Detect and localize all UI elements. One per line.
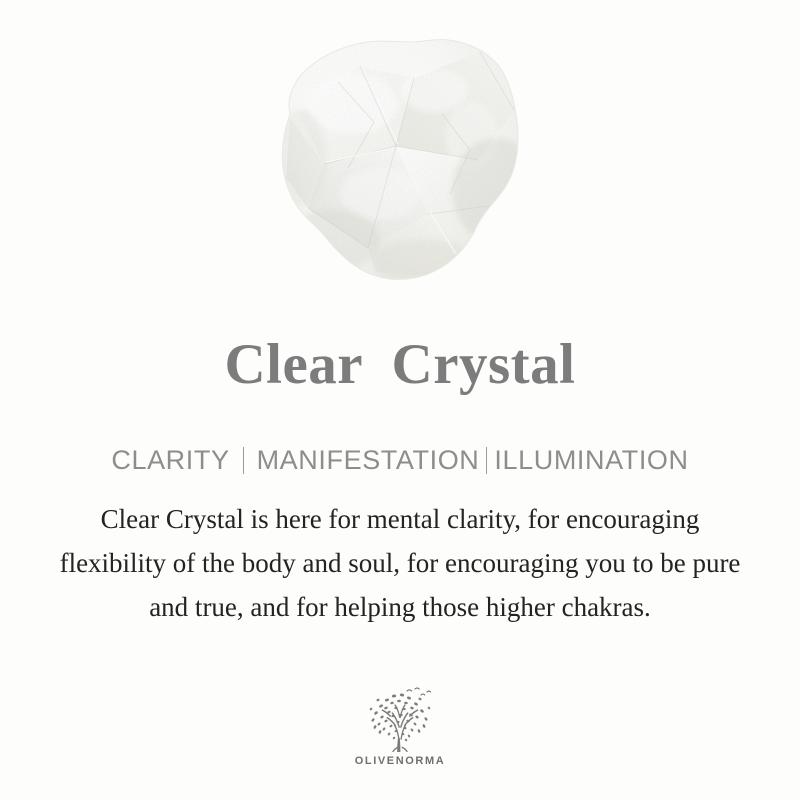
product-keywords: CLARITYMANIFESTATIONILLUMINATION (0, 444, 800, 476)
keyword-manifestation: MANIFESTATION (257, 445, 480, 475)
product-description: Clear Crystal is here for mental clarity… (50, 497, 750, 629)
keyword-illumination: ILLUMINATION (494, 445, 688, 475)
clear-crystal-image (228, 18, 548, 308)
brand-logo: OLIVENORMA (0, 686, 800, 767)
brand-name: OLIVENORMA (0, 756, 800, 767)
keyword-separator-icon (486, 447, 487, 474)
keyword-clarity: CLARITY (111, 445, 229, 475)
olive-tree-icon (361, 686, 439, 754)
product-card: Clear Crystal CLARITYMANIFESTATIONILLUMI… (0, 0, 800, 800)
crystal-image-stage (0, 0, 800, 310)
product-title: Clear Crystal (0, 336, 800, 393)
keyword-separator-icon (243, 447, 244, 474)
